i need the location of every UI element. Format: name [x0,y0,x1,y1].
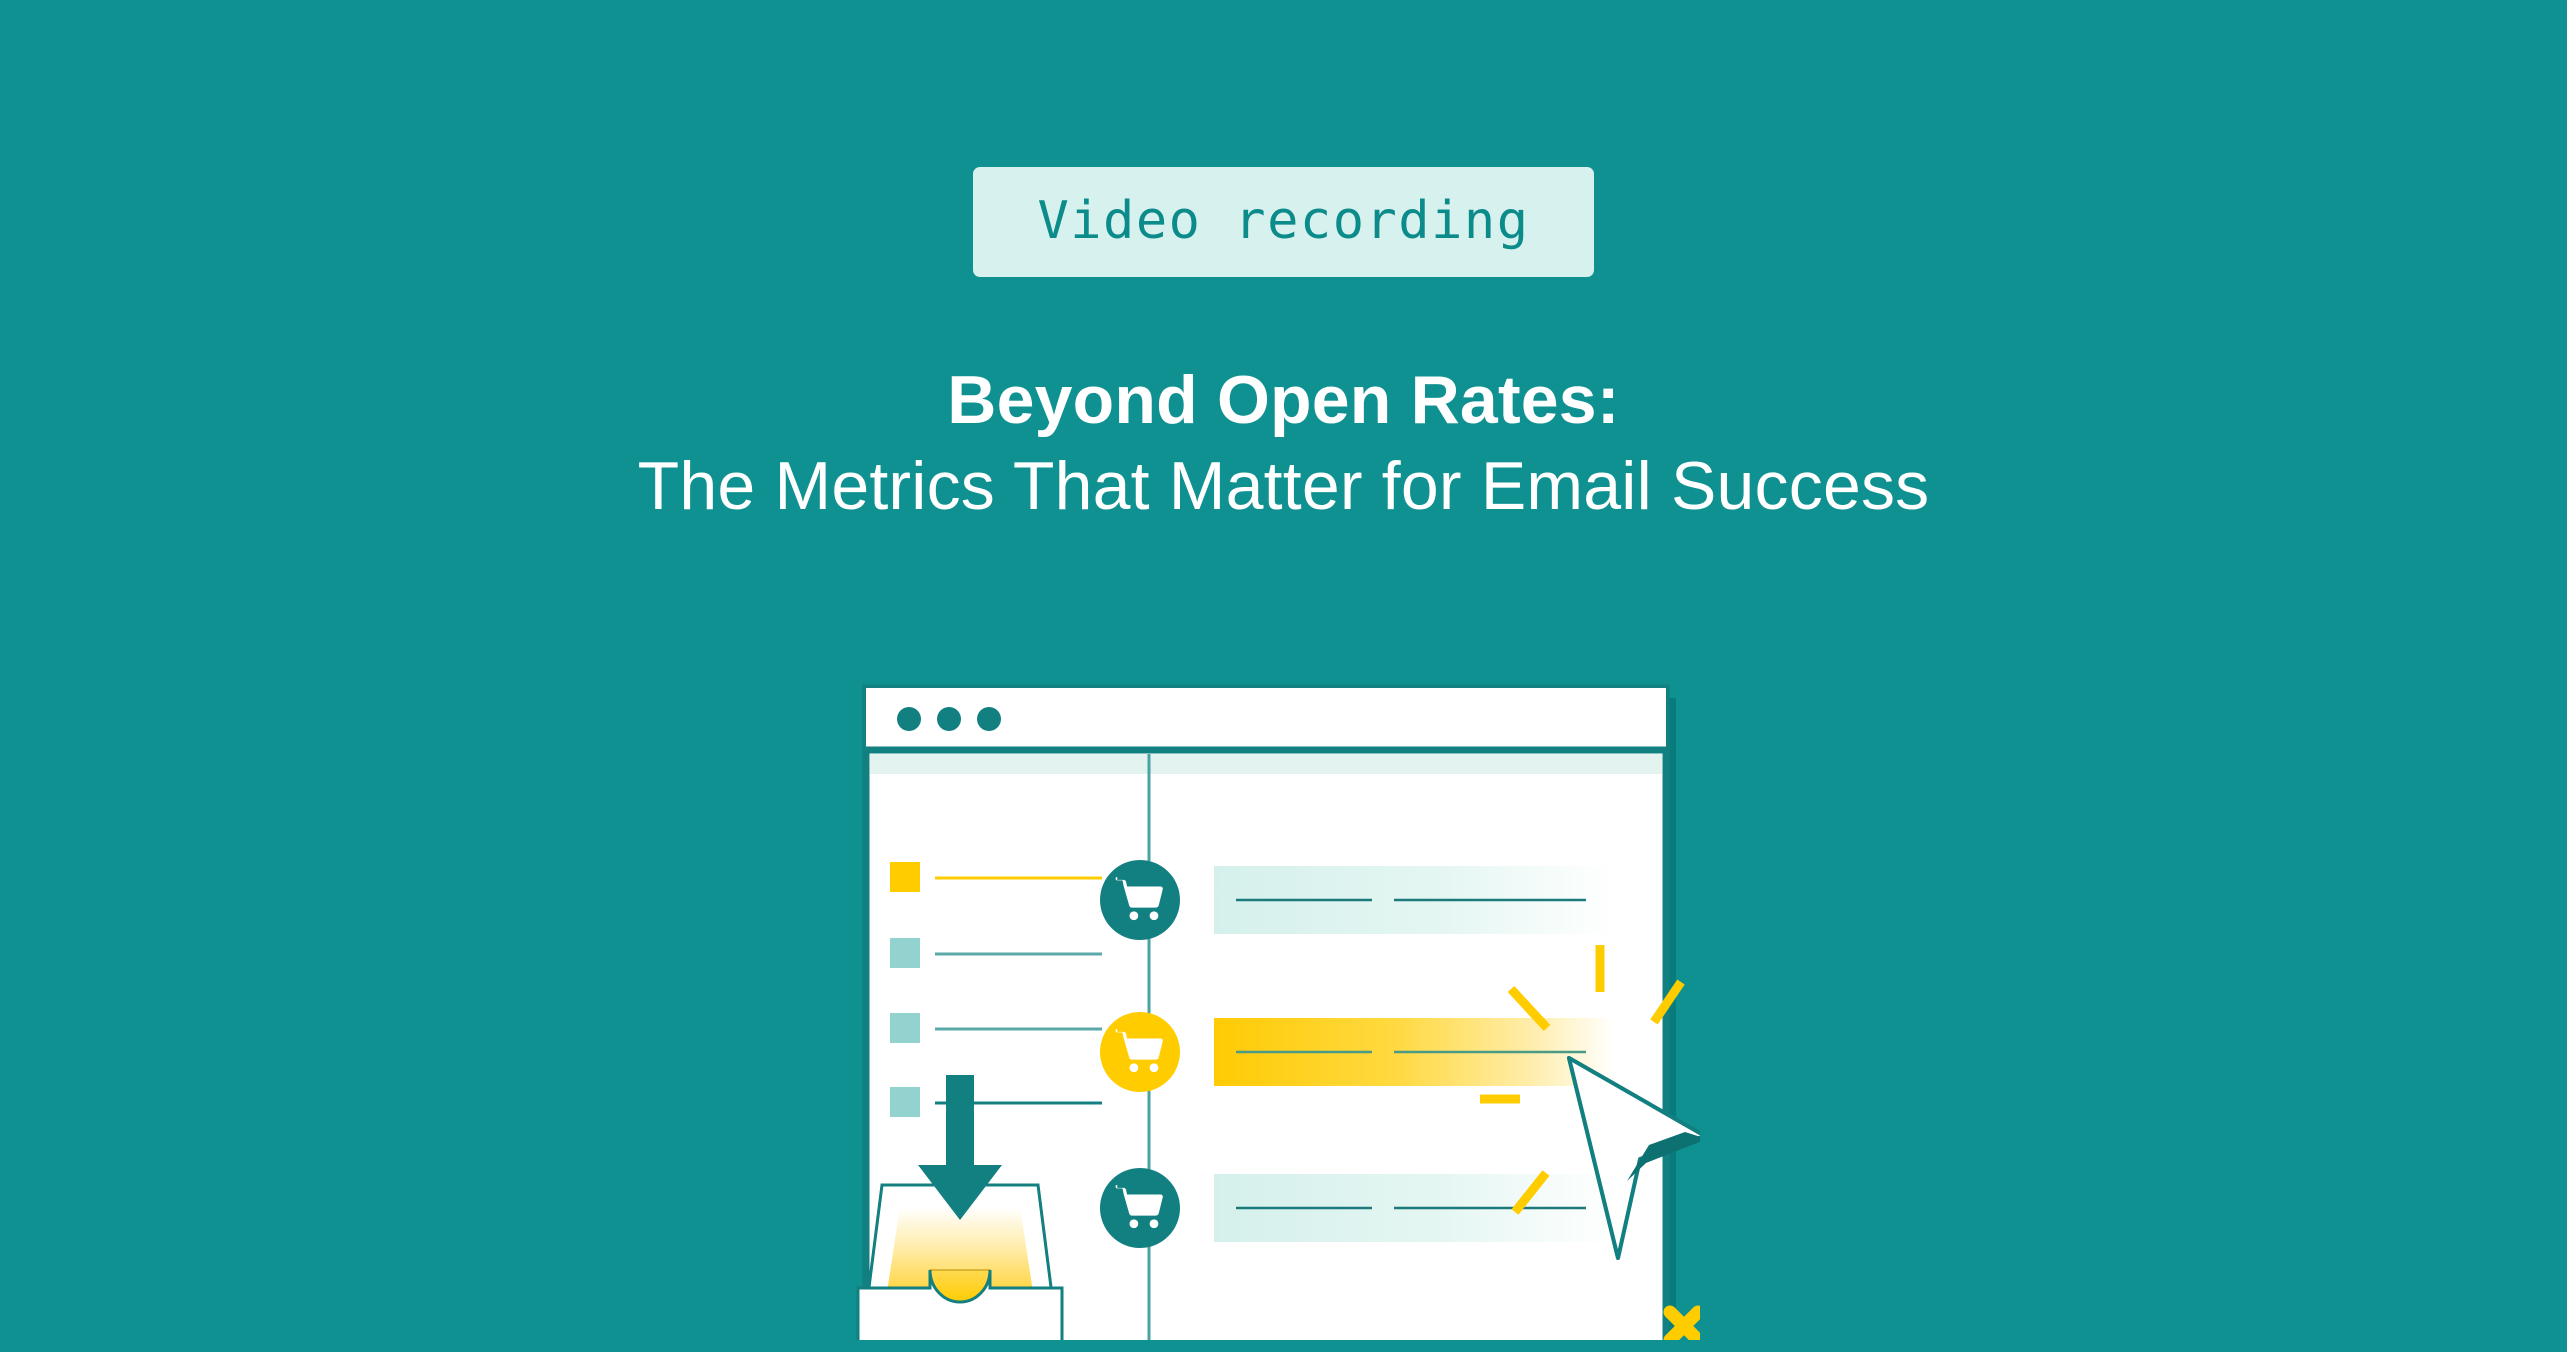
titlebar-dot-2 [937,707,961,731]
titlebar-dot-3 [977,707,1001,731]
sidebar-swatch [890,938,920,968]
titlebar-dot-1 [897,707,921,731]
title-line-primary: Beyond Open Rates: [0,360,2567,440]
subheader-strip [870,754,1662,774]
page-title: Beyond Open Rates: The Metrics That Matt… [0,360,2567,526]
badge-row: Video recording [0,167,2567,277]
video-recording-badge: Video recording [973,167,1593,277]
window-titlebar [866,688,1666,750]
sidebar-swatch [890,862,920,892]
sidebar-swatch [890,1013,920,1043]
hero-illustration [780,640,1700,1340]
illustration-svg [780,640,1700,1340]
title-line-secondary: The Metrics That Matter for Email Succes… [0,446,2567,526]
poster-canvas: Video recording Beyond Open Rates: The M… [0,0,2567,1352]
sidebar-swatch [890,1087,920,1117]
